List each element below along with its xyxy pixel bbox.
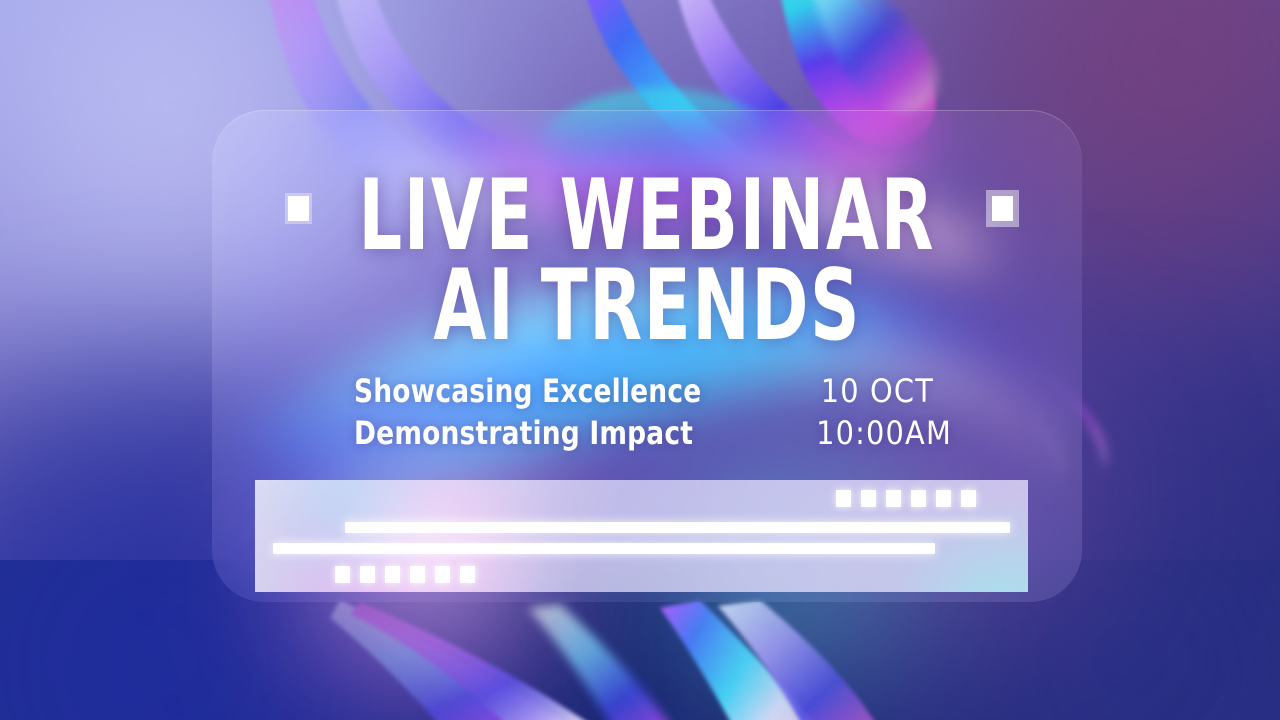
dot-bottom-5-icon — [435, 566, 450, 583]
dot-top-5-icon — [936, 490, 951, 507]
dot-bottom-4-icon — [410, 566, 425, 583]
divider-bar-bottom — [273, 543, 935, 554]
dot-row-top — [836, 490, 976, 507]
bottom-banner-panel — [255, 480, 1028, 592]
divider-bar-top — [345, 522, 1010, 533]
dot-row-bottom — [335, 566, 475, 583]
dot-top-3-icon — [886, 490, 901, 507]
dot-bottom-6-icon — [460, 566, 475, 583]
dot-bottom-1-icon — [335, 566, 350, 583]
dot-top-1-icon — [836, 490, 851, 507]
dot-top-2-icon — [861, 490, 876, 507]
dot-top-4-icon — [911, 490, 926, 507]
dot-top-6-icon — [961, 490, 976, 507]
dot-bottom-3-icon — [385, 566, 400, 583]
dot-bottom-2-icon — [360, 566, 375, 583]
